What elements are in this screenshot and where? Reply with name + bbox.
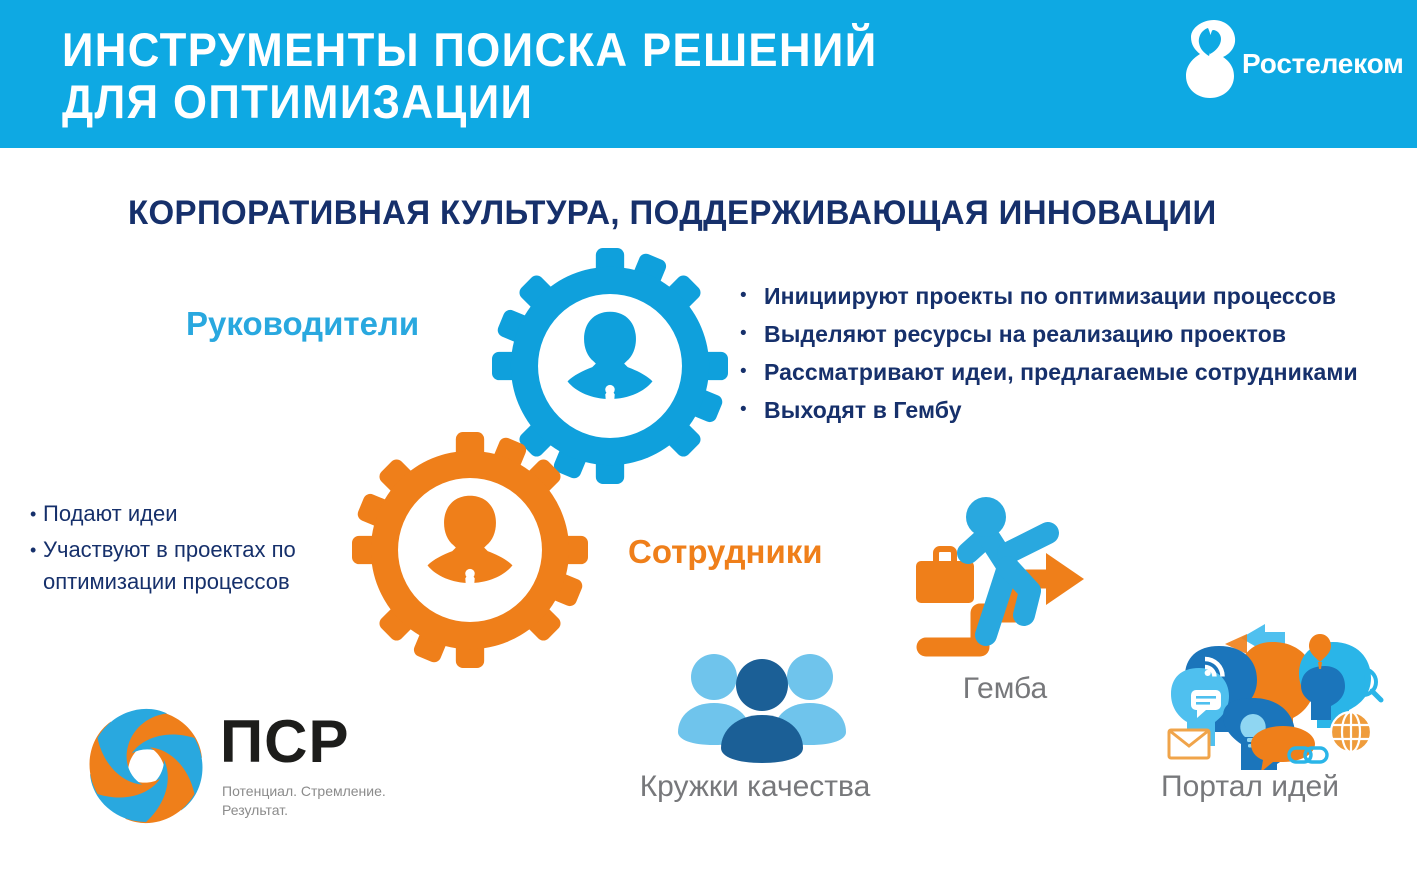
list-item-label: Рассматривают идеи, предлагаемые сотрудн…	[764, 358, 1358, 386]
bullet-marker: •	[740, 396, 764, 424]
page-title: КОРПОРАТИВНАЯ КУЛЬТУРА, ПОДДЕРЖИВАЮЩАЯ И…	[128, 194, 1217, 233]
list-item: • Подают идеи	[30, 498, 340, 530]
staff-bullet-list: • Подают идеи • Участвуют в проектах по …	[30, 498, 340, 602]
list-item-label: Участвуют в проектах по оптимизации проц…	[43, 534, 340, 598]
bullet-marker: •	[740, 320, 764, 348]
ideas-portal-icon	[1155, 620, 1395, 770]
list-item-label: Выделяют ресурсы на реализацию проектов	[764, 320, 1286, 348]
leaders-bullet-list: • Инициируют проекты по оптимизации проц…	[740, 282, 1400, 434]
tool-quality-circles	[672, 645, 852, 765]
bullet-marker: •	[740, 358, 764, 386]
bullet-marker: •	[740, 282, 764, 310]
rostelecom-mark-icon	[1178, 18, 1240, 100]
bullet-marker: •	[30, 534, 43, 566]
header-title: ИНСТРУМЕНТЫ ПОИСКА РЕШЕНИЙ ДЛЯ ОПТИМИЗАЦ…	[62, 24, 992, 128]
header-band: ИНСТРУМЕНТЫ ПОИСКА РЕШЕНИЙ ДЛЯ ОПТИМИЗАЦ…	[0, 0, 1417, 148]
bullet-marker: •	[30, 498, 43, 530]
list-item: • Рассматривают идеи, предлагаемые сотру…	[740, 358, 1400, 386]
gemba-climbing-icon	[908, 495, 1098, 665]
psr-tagline: Потенциал. Стремление. Результат.	[222, 782, 392, 820]
slide-canvas: ИНСТРУМЕНТЫ ПОИСКА РЕШЕНИЙ ДЛЯ ОПТИМИЗАЦ…	[0, 0, 1417, 872]
tool-ideas-portal	[1155, 620, 1395, 770]
list-item: • Инициируют проекты по оптимизации проц…	[740, 282, 1400, 310]
tool-gemba	[908, 495, 1098, 665]
list-item-label: Инициируют проекты по оптимизации процес…	[764, 282, 1336, 310]
psr-logo: ПСР Потенциал. Стремление. Результат.	[80, 700, 380, 835]
tool-caption-gemba: Гемба	[940, 672, 1070, 706]
gear-orange-icon	[352, 432, 588, 668]
tool-caption-quality-circles: Кружки качества	[605, 770, 905, 804]
tool-caption-ideas-portal: Портал идей	[1135, 770, 1365, 804]
psr-pinwheel-icon	[80, 700, 212, 832]
rostelecom-logo: Ростелеком	[1178, 18, 1393, 100]
rostelecom-wordmark: Ростелеком	[1242, 48, 1404, 80]
psr-wordmark: ПСР	[220, 712, 349, 772]
list-item: • Выделяют ресурсы на реализацию проекто…	[740, 320, 1400, 348]
list-item-label: Подают идеи	[43, 498, 178, 530]
role-label-leaders: Руководители	[186, 305, 419, 343]
list-item: • Участвуют в проектах по оптимизации пр…	[30, 534, 340, 598]
three-people-icon	[672, 645, 852, 765]
role-label-staff: Сотрудники	[628, 533, 823, 571]
list-item: • Выходят в Гембу	[740, 396, 1400, 424]
gear-staff	[352, 432, 588, 668]
list-item-label: Выходят в Гембу	[764, 396, 962, 424]
